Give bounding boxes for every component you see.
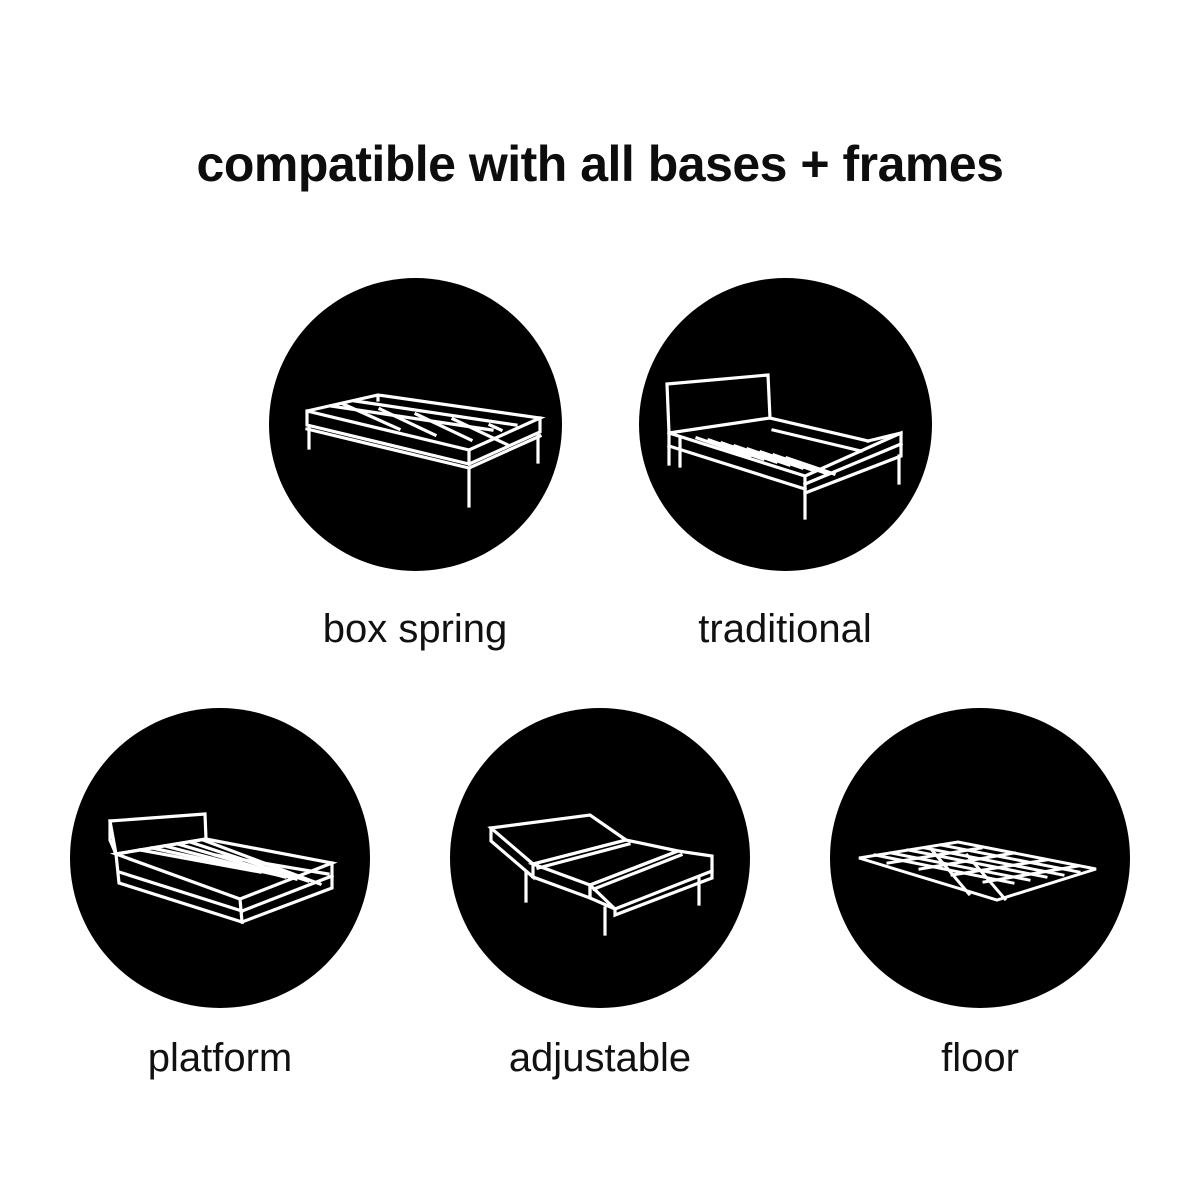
base-option-traditional[interactable]: traditional: [639, 278, 932, 652]
base-option-platform[interactable]: platform: [70, 708, 370, 1081]
floor-slats-icon: [830, 708, 1130, 1008]
base-option-label: adjustable: [509, 1036, 691, 1081]
traditional-bed-frame-icon: [639, 278, 932, 571]
page-title: compatible with all bases + frames: [0, 134, 1200, 194]
platform-badge[interactable]: [70, 708, 370, 1008]
bases-row-bottom: platform: [0, 708, 1200, 1081]
floor-badge[interactable]: [830, 708, 1130, 1008]
base-option-label: traditional: [698, 607, 871, 652]
traditional-badge[interactable]: [639, 278, 932, 571]
base-option-label: platform: [148, 1036, 293, 1081]
base-option-box-spring[interactable]: box spring: [269, 278, 562, 652]
box-spring-base-icon: [269, 278, 562, 571]
base-option-floor[interactable]: floor: [830, 708, 1130, 1081]
bases-row-top: box spring: [0, 278, 1200, 652]
platform-bed-icon: [70, 708, 370, 1008]
base-option-adjustable[interactable]: adjustable: [450, 708, 750, 1081]
adjustable-base-icon: [450, 708, 750, 1008]
base-option-label: box spring: [323, 607, 508, 652]
base-option-label: floor: [941, 1036, 1019, 1081]
compatibility-infographic: compatible with all bases + frames: [0, 0, 1200, 1200]
adjustable-badge[interactable]: [450, 708, 750, 1008]
box-spring-badge[interactable]: [269, 278, 562, 571]
